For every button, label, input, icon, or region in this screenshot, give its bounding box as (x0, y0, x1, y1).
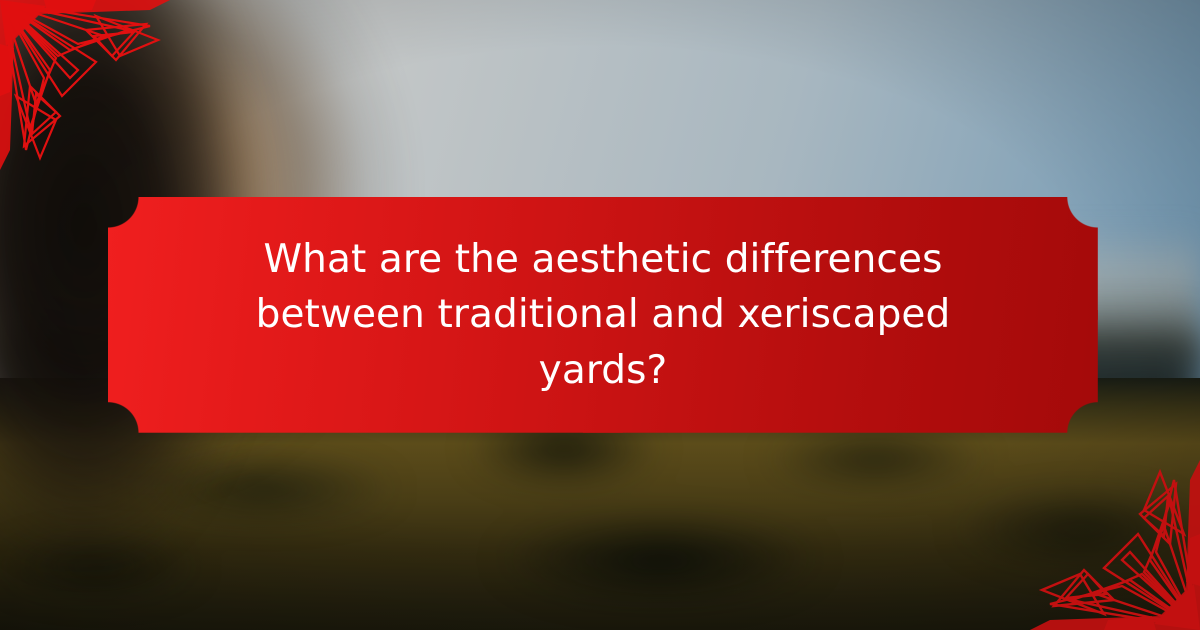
question-card: What are the aesthetic differences betwe… (108, 197, 1098, 433)
screenshot-canvas: What are the aesthetic differences betwe… (0, 0, 1200, 630)
question-title: What are the aesthetic differences betwe… (223, 232, 983, 398)
